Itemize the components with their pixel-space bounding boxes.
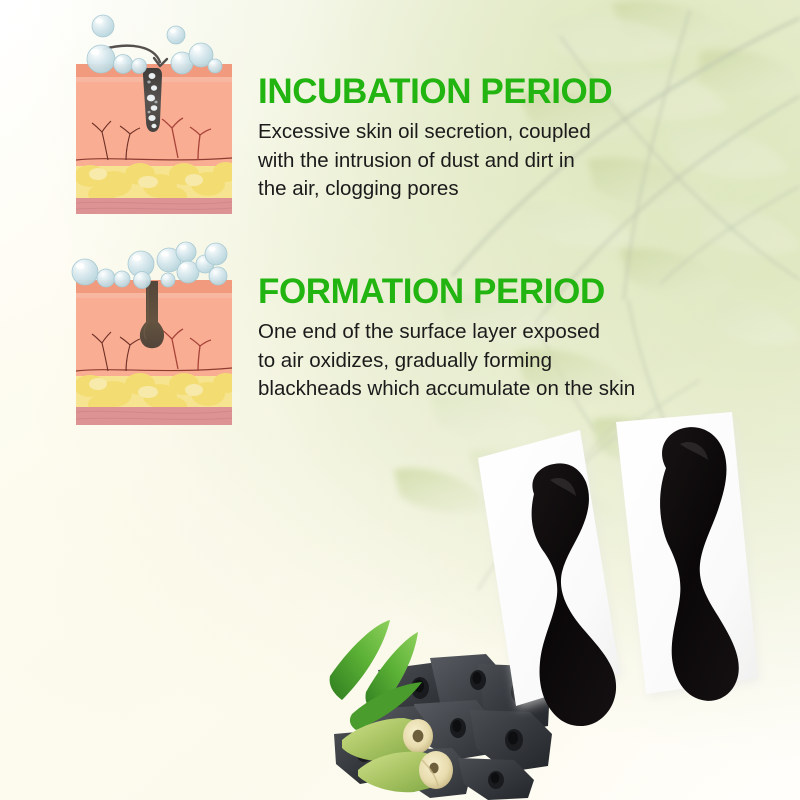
heading-incubation-period: INCUBATION PERIOD bbox=[258, 72, 678, 112]
section-incubation-text: INCUBATION PERIOD Excessive skin oil sec… bbox=[258, 72, 678, 204]
diagram-incubation-period bbox=[68, 8, 240, 220]
heading-formation-period: FORMATION PERIOD bbox=[258, 272, 708, 312]
product-photo-area bbox=[300, 400, 800, 800]
paragraph-incubation: Excessive skin oil secretion, coupled wi… bbox=[258, 118, 678, 204]
nose-strips-group bbox=[470, 410, 800, 800]
paragraph-line: to air oxidizes, gradually forming bbox=[258, 347, 708, 376]
paragraph-line: Excessive skin oil secretion, coupled bbox=[258, 118, 678, 147]
paragraph-line: the air, clogging pores bbox=[258, 175, 678, 204]
paragraph-line: One end of the surface layer exposed bbox=[258, 318, 708, 347]
product-infographic: INCUBATION PERIOD Excessive skin oil sec… bbox=[0, 0, 800, 800]
paragraph-formation: One end of the surface layer exposed to … bbox=[258, 318, 708, 404]
diagram-formation-period bbox=[68, 240, 240, 430]
paragraph-line: with the intrusion of dust and dirt in bbox=[258, 147, 678, 176]
section-formation-text: FORMATION PERIOD One end of the surface … bbox=[258, 272, 708, 404]
